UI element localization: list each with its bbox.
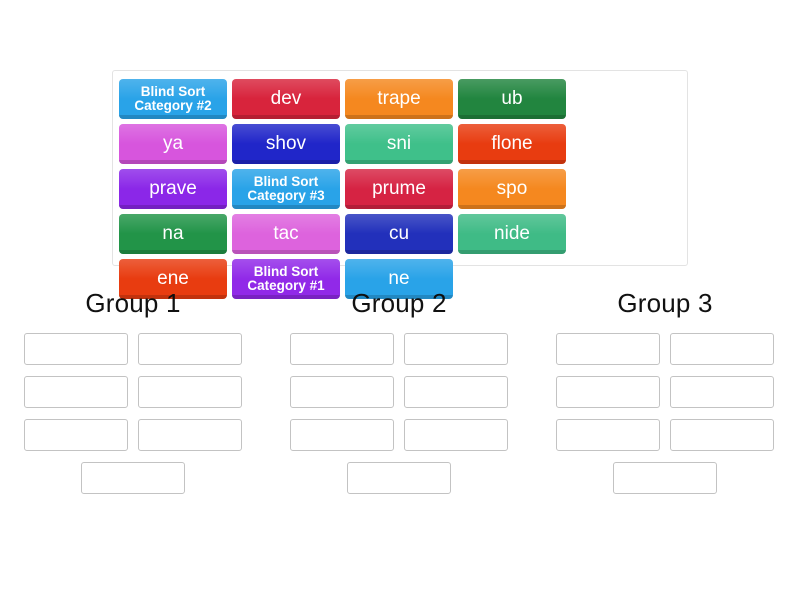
- drop-slot[interactable]: [138, 419, 242, 451]
- drop-slot[interactable]: [556, 419, 660, 451]
- word-tile[interactable]: ya: [119, 124, 227, 164]
- word-tile[interactable]: tac: [232, 214, 340, 254]
- word-tile[interactable]: ub: [458, 79, 566, 119]
- drop-slot[interactable]: [138, 333, 242, 365]
- group-slot-row: [285, 376, 513, 408]
- word-tile[interactable]: prume: [345, 169, 453, 209]
- word-tile-label: cu: [389, 224, 409, 244]
- drop-slot[interactable]: [670, 333, 774, 365]
- drop-slot[interactable]: [404, 376, 508, 408]
- drop-slot[interactable]: [24, 419, 128, 451]
- word-tile[interactable]: flone: [458, 124, 566, 164]
- word-tile[interactable]: nide: [458, 214, 566, 254]
- groups-container: Group 1Group 2Group 3: [0, 288, 800, 505]
- group-column: Group 1: [0, 288, 266, 505]
- drop-slot[interactable]: [556, 333, 660, 365]
- tile-grid: Blind Sort Category #2devtrapeubyashovsn…: [119, 79, 683, 304]
- word-tile-label: trape: [377, 89, 420, 109]
- group-slot-row: [19, 333, 247, 365]
- tile-bank: Blind Sort Category #2devtrapeubyashovsn…: [112, 70, 688, 266]
- group-slot-rows: [19, 333, 247, 505]
- group-slot-row: [76, 462, 190, 494]
- word-tile-label: ne: [388, 269, 409, 289]
- word-tile-label: ene: [157, 269, 189, 289]
- drop-slot[interactable]: [670, 419, 774, 451]
- word-tile-label: Blind Sort Category #1: [247, 265, 324, 293]
- word-tile-label: ub: [501, 89, 522, 109]
- drop-slot[interactable]: [556, 376, 660, 408]
- drop-slot[interactable]: [290, 333, 394, 365]
- word-tile-label: Blind Sort Category #2: [134, 85, 211, 113]
- word-tile-label: prume: [372, 179, 426, 199]
- word-tile[interactable]: cu: [345, 214, 453, 254]
- drop-slot[interactable]: [404, 419, 508, 451]
- drop-slot[interactable]: [138, 376, 242, 408]
- word-tile-label: tac: [273, 224, 298, 244]
- word-tile[interactable]: prave: [119, 169, 227, 209]
- group-column: Group 2: [266, 288, 532, 505]
- drop-slot[interactable]: [404, 333, 508, 365]
- word-tile-label: sni: [387, 134, 411, 154]
- word-tile-label: ya: [163, 134, 183, 154]
- word-tile[interactable]: Blind Sort Category #2: [119, 79, 227, 119]
- word-tile-label: dev: [271, 89, 302, 109]
- word-tile[interactable]: sni: [345, 124, 453, 164]
- word-tile[interactable]: Blind Sort Category #1: [232, 259, 340, 299]
- word-tile[interactable]: trape: [345, 79, 453, 119]
- word-tile-label: prave: [149, 179, 197, 199]
- group-slot-row: [551, 376, 779, 408]
- word-tile[interactable]: spo: [458, 169, 566, 209]
- word-tile-label: nide: [494, 224, 530, 244]
- word-tile[interactable]: shov: [232, 124, 340, 164]
- word-tile[interactable]: dev: [232, 79, 340, 119]
- drop-slot[interactable]: [290, 419, 394, 451]
- group-slot-row: [608, 462, 722, 494]
- group-slot-rows: [285, 333, 513, 505]
- group-slot-row: [19, 419, 247, 451]
- group-slot-row: [285, 333, 513, 365]
- drop-slot[interactable]: [24, 333, 128, 365]
- group-slot-row: [551, 419, 779, 451]
- group-slot-row: [342, 462, 456, 494]
- drop-slot[interactable]: [290, 376, 394, 408]
- drop-slot[interactable]: [81, 462, 185, 494]
- group-slot-row: [19, 376, 247, 408]
- drop-slot[interactable]: [347, 462, 451, 494]
- word-tile-label: shov: [266, 134, 306, 154]
- word-tile[interactable]: Blind Sort Category #3: [232, 169, 340, 209]
- group-slot-row: [285, 419, 513, 451]
- drop-slot[interactable]: [613, 462, 717, 494]
- word-tile-label: na: [162, 224, 183, 244]
- group-slot-rows: [551, 333, 779, 505]
- drop-slot[interactable]: [24, 376, 128, 408]
- group-slot-row: [551, 333, 779, 365]
- word-tile-label: spo: [497, 179, 528, 199]
- group-title: Group 2: [351, 288, 446, 319]
- group-title: Group 3: [617, 288, 712, 319]
- word-tile-label: flone: [491, 134, 532, 154]
- drop-slot[interactable]: [670, 376, 774, 408]
- group-column: Group 3: [532, 288, 798, 505]
- word-tile-label: Blind Sort Category #3: [247, 175, 324, 203]
- group-title: Group 1: [85, 288, 180, 319]
- word-tile[interactable]: na: [119, 214, 227, 254]
